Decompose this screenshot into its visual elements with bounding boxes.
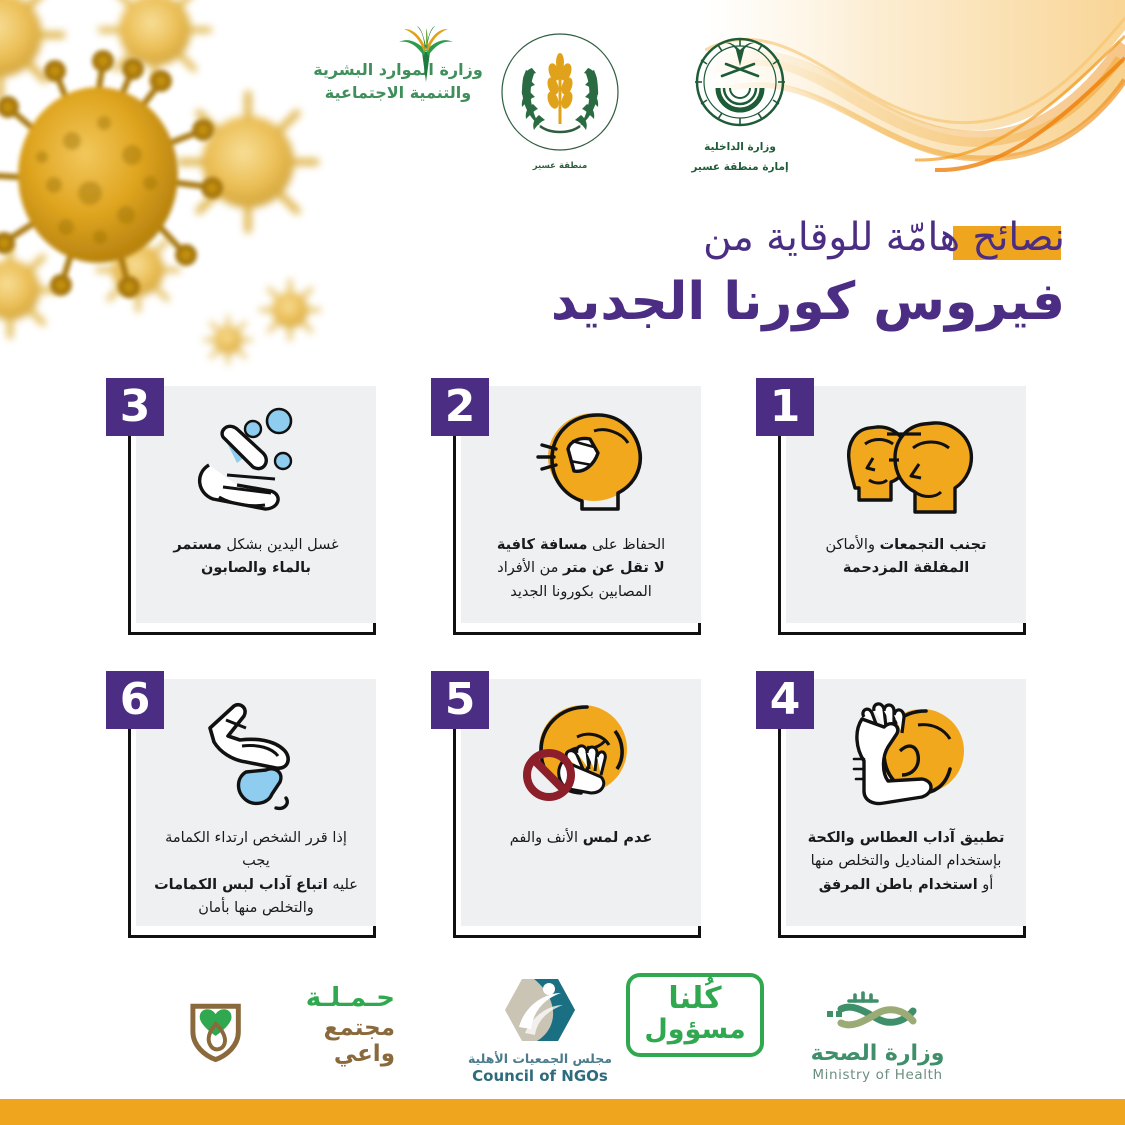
heart-shield-drop-icon [185,988,246,1062]
moh-english-label: Ministry of Health [790,1067,965,1083]
two-faces-crowd-icon [829,400,984,528]
card-body: تطبيق آداب العطاس والكحةبإستخدام المنادي… [786,679,1026,926]
tip-text-line: الحفاظ على مسافة كافية [475,534,687,557]
tip-card-3[interactable]: 3 غسل اليدين بشكل مستمربالما [128,378,380,643]
tip-text-line: بالماء والصابون [150,557,362,580]
tip-text-6: إذا قرر الشخص ارتداء الكمامة يجبعليه اتب… [146,827,366,921]
tip-text-line: إذا قرر الشخص ارتداء الكمامة يجب [150,827,362,874]
card-body: غسل اليدين بشكل مستمربالماء والصابون [136,386,376,623]
saudi-emblem-icon [692,36,788,132]
tip-text-line: عدم لمس الأنف والفم [475,827,687,850]
tip-card-4[interactable]: 4 [778,671,1030,946]
moh-arabic-label: وزارة الصحة [790,1041,965,1066]
campaign-line1: حـمـلـة [256,983,395,1013]
handwash-soap-icon [179,400,334,528]
wheat-wreath-icon [496,30,624,155]
ngos-arabic-label: مجلس الجمعيات الأهلية [450,1051,630,1066]
tip-text-1: تجنب التجمعات والأماكنالمفلقة المزدحمة [796,534,1016,581]
logo-ministry-interior: وزارة الداخلية إمارة منطقة عسير [650,36,830,176]
logo-text-moi-line1: وزارة الداخلية [650,140,830,156]
tip-card-5[interactable]: 5 [453,671,705,946]
logo-ministry-of-health: وزارة الصحة Ministry of Health [790,989,965,1083]
tip-card-6[interactable]: 6 إذا قرر الشخص ارتداء الكمامة يجبعليه ا… [128,671,380,946]
tip-text-line: تطبيق آداب العطاس والكحة [800,827,1012,850]
tip-text-line: المصابين بكورونا الجديد [475,581,687,604]
tip-text-line: غسل اليدين بشكل مستمر [150,534,362,557]
moh-ribbon-palm-icon [819,989,937,1035]
tip-text-3: غسل اليدين بشكل مستمربالماء والصابون [146,534,366,581]
tip-number-badge-3: 3 [106,378,164,436]
logo-text-moi-line2: إمارة منطقة عسير [650,160,830,176]
logo-text-mhrsd-line2: والتنمية الاجتماعية [283,81,513,104]
tip-number-badge-1: 1 [756,378,814,436]
tip-card-2[interactable]: 2 [453,378,705,643]
card-body: عدم لمس الأنف والفم [461,679,701,926]
tip-text-line: أو استخدام باطن المرفق [800,874,1012,897]
tip-text-5: عدم لمس الأنف والفم [471,827,691,850]
tip-text-line: عليه اتباع آداب لبس الكمامات [150,874,362,897]
headline-block: نصائح هامّة للوقاية من فيروس كورنا الجدي… [405,212,1065,336]
responsible-badge: كُلنا مسؤول [626,973,763,1057]
tip-number-badge-4: 4 [756,671,814,729]
tip-number-badge-6: 6 [106,671,164,729]
bottom-accent-bar [0,1099,1125,1125]
tip-text-line: بإستخدام المناديل والتخلص منها [800,850,1012,873]
palm-tree-swords-icon [395,26,457,84]
tip-text-line: تجنب التجمعات والأماكن [800,534,1012,557]
campaign-line2: مجتمع واعي [256,1015,395,1067]
hexagon-wave-icon [503,977,577,1043]
tip-text-line: لا تقل عن متر من الأفراد [475,557,687,580]
discard-mask-icon [180,693,332,821]
headline-title: فيروس كورنا الجديد [405,269,1065,337]
tip-text-line: المفلقة المزدحمة [800,557,1012,580]
card-body: تجنب التجمعات والأماكنالمفلقة المزدحمة [786,386,1026,623]
responsible-line2: مسؤول [644,1015,745,1044]
header-logo-row: وزارة الموارد البشرية والتنمية الاجتماعي… [0,18,1125,198]
ngos-english-label: Council of NGOs [450,1067,630,1085]
logo-we-are-all-responsible: كُلنا مسؤول [625,973,765,1057]
tips-grid: 1 تجنب التجمعات [100,378,1030,946]
no-touch-face-icon [505,693,657,821]
logo-caption-charity-bottom: منطقة عسير [490,161,630,171]
card-body: الحفاظ على مسافة كافيةلا تقل عن متر من ا… [461,386,701,623]
tip-text-2: الحفاظ على مسافة كافيةلا تقل عن متر من ا… [471,534,691,604]
headline-subtitle: نصائح هامّة للوقاية من [703,212,1065,265]
footer-logo-row: حـمـلـة مجتمع واعي مجلس الجمعيات الأهلية [0,965,1125,1085]
tip-text-4: تطبيق آداب العطاس والكحةبإستخدام المنادي… [796,827,1016,897]
tip-card-1[interactable]: 1 تجنب التجمعات [778,378,1030,643]
logo-council-of-ngos: مجلس الجمعيات الأهلية Council of NGOs [450,977,630,1085]
card-body: إذا قرر الشخص ارتداء الكمامة يجبعليه اتب… [136,679,376,926]
logo-aware-community-campaign: حـمـلـة مجتمع واعي [185,983,395,1067]
cough-into-elbow-icon [830,693,982,821]
tip-text-line: والتخلص منها بأمان [150,897,362,920]
logo-omar-charity: منطقة عسير [490,30,630,171]
tip-number-badge-5: 5 [431,671,489,729]
logo-ministry-human-resources: وزارة الموارد البشرية والتنمية الاجتماعي… [283,58,513,104]
poster-root: وزارة الموارد البشرية والتنمية الاجتماعي… [0,0,1125,1125]
face-mask-sneeze-icon [506,400,656,528]
tip-number-badge-2: 2 [431,378,489,436]
responsible-line1: كُلنا [644,983,745,1015]
